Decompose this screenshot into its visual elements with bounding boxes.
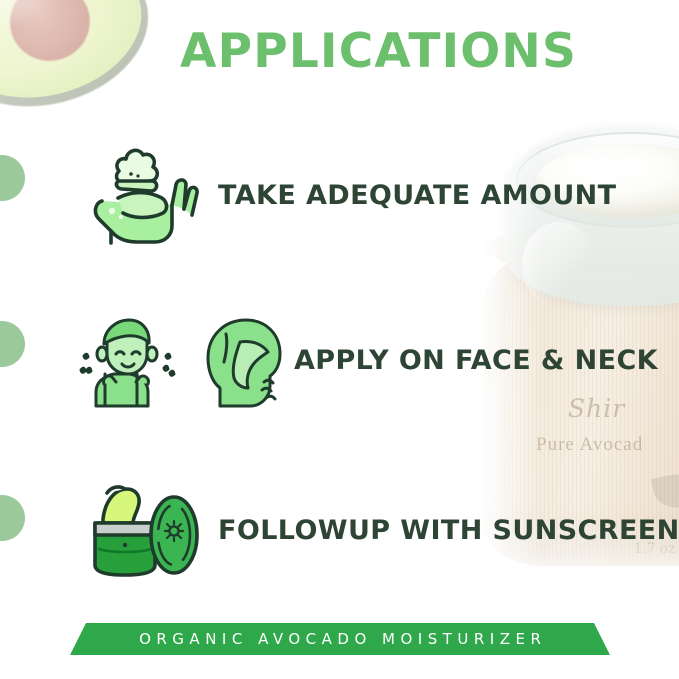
step-row-2: APPLY ON FACE & NECK bbox=[70, 300, 630, 420]
step-label-2: APPLY ON FACE & NECK bbox=[294, 345, 658, 376]
jar-description: Pure Avocad bbox=[536, 434, 643, 456]
jar-leaf-mark bbox=[651, 470, 679, 513]
step-row-3: FOLLOWUP WITH SUNSCREEN bbox=[70, 470, 630, 590]
hand-with-cream-dollop-icon bbox=[70, 140, 210, 250]
edge-dot-3 bbox=[0, 495, 25, 541]
edge-dot-2 bbox=[0, 321, 25, 367]
step-label-3: FOLLOWUP WITH SUNSCREEN bbox=[218, 515, 679, 546]
avocado-highlight bbox=[0, 0, 71, 45]
edge-dot-1 bbox=[0, 155, 25, 201]
avocado-half-photo bbox=[0, 0, 169, 147]
page-title: APPLICATIONS bbox=[180, 24, 600, 79]
avocado-flesh bbox=[0, 0, 157, 117]
infographic-canvas: Shir Pure Avocad 1.7 oz APPLICATIONS bbox=[0, 0, 679, 679]
ribbon-text: ORGANIC AVOCADO MOISTURIZER bbox=[134, 630, 547, 648]
step-label-1: TAKE ADEQUATE AMOUNT bbox=[218, 180, 617, 211]
sunscreen-jar-icon bbox=[70, 475, 210, 585]
avocado-pit bbox=[2, 0, 98, 69]
avocado-skin bbox=[0, 0, 165, 127]
step-row-1: TAKE ADEQUATE AMOUNT bbox=[70, 135, 630, 255]
bottom-ribbon: ORGANIC AVOCADO MOISTURIZER bbox=[70, 623, 610, 655]
